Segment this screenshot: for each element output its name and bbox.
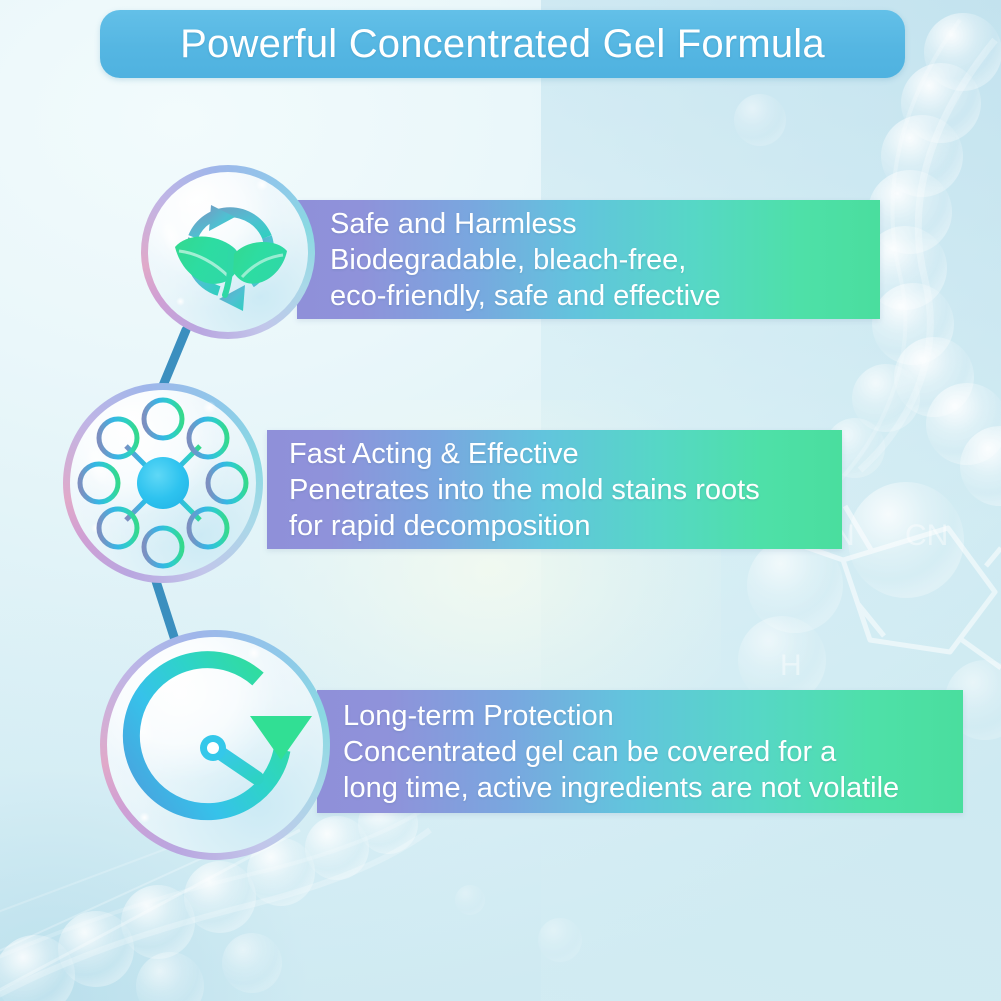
feature-3-body-line-2: long time, active ingredients are not vo… bbox=[343, 770, 963, 806]
clock-hands bbox=[213, 682, 257, 778]
feature-bubble-2 bbox=[63, 383, 263, 583]
header-banner: Powerful Concentrated Gel Formula bbox=[100, 10, 905, 78]
chem-label-h: H bbox=[780, 649, 802, 682]
infographic-canvas: N CN H bbox=[0, 0, 1001, 1001]
feature-2-heading: Fast Acting & Effective bbox=[289, 436, 842, 472]
feature-2-body-line-2: for rapid decomposition bbox=[289, 508, 842, 544]
feature-1-body-line-1: Biodegradable, bleach-free, bbox=[330, 242, 880, 278]
eco-recycle-leaf-icon bbox=[141, 165, 315, 339]
feature-1-heading: Safe and Harmless bbox=[330, 206, 880, 242]
feature-3-body-line-1: Concentrated gel can be covered for a bbox=[343, 734, 963, 770]
feature-banner-3: Long-term Protection Concentrated gel ca… bbox=[317, 690, 963, 813]
chem-label-cn: CN bbox=[905, 519, 948, 552]
molecule-core bbox=[137, 457, 189, 509]
feature-bubble-3 bbox=[100, 630, 330, 860]
recycle-arrow-head-bottom bbox=[219, 285, 245, 311]
clock-center-dot bbox=[207, 742, 219, 754]
page-title: Powerful Concentrated Gel Formula bbox=[180, 24, 825, 64]
feature-bubble-1 bbox=[141, 165, 315, 339]
clock-arrow-icon bbox=[100, 630, 330, 860]
molecule-network-icon bbox=[63, 383, 263, 583]
feature-banner-2: Fast Acting & Effective Penetrates into … bbox=[267, 430, 842, 549]
feature-3-heading: Long-term Protection bbox=[343, 698, 963, 734]
feature-2-body-line-1: Penetrates into the mold stains roots bbox=[289, 472, 842, 508]
feature-1-body-line-2: eco-friendly, safe and effective bbox=[330, 278, 880, 314]
feature-banner-1: Safe and Harmless Biodegradable, bleach-… bbox=[297, 200, 880, 319]
clock-arrow-head bbox=[250, 716, 312, 760]
